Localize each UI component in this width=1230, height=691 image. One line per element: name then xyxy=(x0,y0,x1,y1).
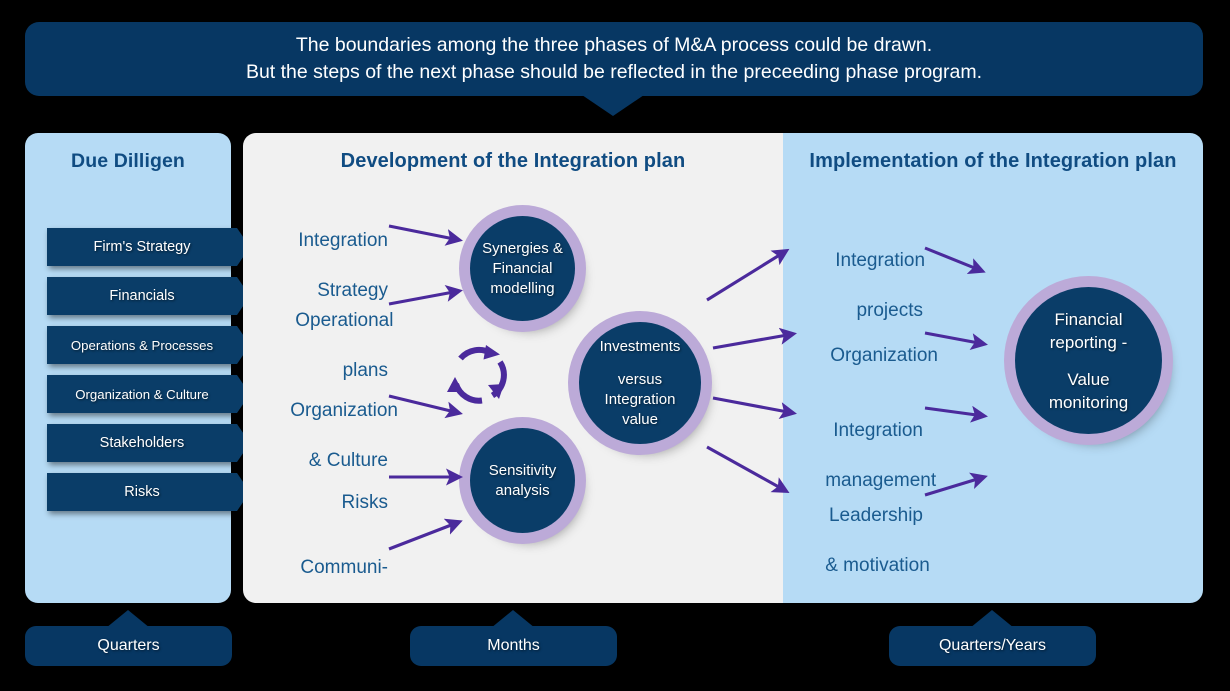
circle-line-1: Sensitivity xyxy=(489,461,557,481)
label-line-1: Integration xyxy=(298,230,388,251)
item-label: Operations & Processes xyxy=(71,338,213,353)
development-input-communication-plan: Communi- cation plan xyxy=(248,530,388,603)
phase-panel-due-diligence: Due Dilligen Firm's Strategy Financials … xyxy=(25,133,231,603)
implementation-input-organization: Organization xyxy=(788,318,923,393)
circle-line-2: Financial xyxy=(492,259,552,279)
item-label: Organization & Culture xyxy=(75,387,208,402)
tab-label: Quarters/Years xyxy=(939,637,1046,655)
timeline-tab-months[interactable]: Months xyxy=(410,626,617,666)
label-line-1: Organization xyxy=(830,345,938,366)
circle-financial-reporting-value-monitoring[interactable]: Financial reporting - Value monitoring xyxy=(1015,287,1162,434)
label-line-2: & motivation xyxy=(825,555,930,576)
due-diligence-item-financials[interactable]: Financials xyxy=(47,277,237,315)
due-diligence-item-stakeholders[interactable]: Stakeholders xyxy=(47,424,237,462)
phase-title-implementation: Implementation of the Integration plan xyxy=(783,150,1203,173)
circle-investments-vs-integration-value[interactable]: Investments versus Integration value xyxy=(579,322,701,444)
circle-line-3: versus xyxy=(618,370,662,390)
label-line-1: Leadership xyxy=(829,505,923,526)
phase-panel-implementation: Implementation of the Integration plan I… xyxy=(783,133,1203,603)
circle-line-4: Integration xyxy=(605,390,676,410)
circle-line-3: modelling xyxy=(490,279,554,299)
due-diligence-item-firms-strategy[interactable]: Firm's Strategy xyxy=(47,228,237,266)
circle-line-5: value xyxy=(622,410,658,430)
due-diligence-item-risks[interactable]: Risks xyxy=(47,473,237,511)
label-line-1: Communi- xyxy=(300,557,388,578)
item-label: Firm's Strategy xyxy=(93,239,190,255)
due-diligence-item-list: Firm's Strategy Financials Operations & … xyxy=(47,228,259,522)
circle-synergies-financial-modelling[interactable]: Synergies & Financial modelling xyxy=(470,216,575,321)
circle-sensitivity-analysis[interactable]: Sensitivity analysis xyxy=(470,428,575,533)
tab-label: Quarters xyxy=(97,637,159,655)
phase-panel-development: Development of the Integration plan Inte… xyxy=(243,133,783,603)
label-line-1: Risks xyxy=(342,492,388,513)
tab-label: Months xyxy=(487,637,539,655)
label-line-1: Integration xyxy=(835,250,925,271)
circle-line-1: Financial xyxy=(1054,308,1122,331)
implementation-input-leadership-motivation: Leadership & motivation xyxy=(783,478,923,603)
due-diligence-item-organization-culture[interactable]: Organization & Culture xyxy=(47,375,237,413)
timeline-tab-quarters[interactable]: Quarters xyxy=(25,626,232,666)
phase-panels-container: Development of the Integration plan Inte… xyxy=(243,133,1203,603)
phase-title-due-diligence: Due Dilligen xyxy=(25,150,231,173)
label-line-1: Operational xyxy=(295,310,393,331)
label-line-1: Integration xyxy=(833,420,923,441)
item-label: Financials xyxy=(109,288,174,304)
due-diligence-item-operations-processes[interactable]: Operations & Processes xyxy=(47,326,237,364)
circle-line-2: reporting - xyxy=(1050,331,1127,354)
circle-line-5: monitoring xyxy=(1049,391,1128,414)
circle-line-4: Value xyxy=(1067,368,1109,391)
circle-line-1: Investments xyxy=(600,337,681,357)
item-label: Stakeholders xyxy=(100,435,185,451)
circle-line-2: analysis xyxy=(495,481,549,501)
diagram-canvas: The boundaries among the three phases of… xyxy=(0,0,1230,691)
callout-tail-icon xyxy=(582,95,644,116)
header-callout: The boundaries among the three phases of… xyxy=(25,22,1203,96)
callout-line-2: But the steps of the next phase should b… xyxy=(246,59,982,86)
callout-line-1: The boundaries among the three phases of… xyxy=(296,32,932,59)
timeline-tab-quarters-years[interactable]: Quarters/Years xyxy=(889,626,1096,666)
item-label: Risks xyxy=(124,484,159,500)
phase-title-development: Development of the Integration plan xyxy=(243,150,783,173)
development-input-risks: Risks xyxy=(248,465,388,540)
circle-line-1: Synergies & xyxy=(482,239,563,259)
label-line-1: Organization xyxy=(290,400,398,421)
